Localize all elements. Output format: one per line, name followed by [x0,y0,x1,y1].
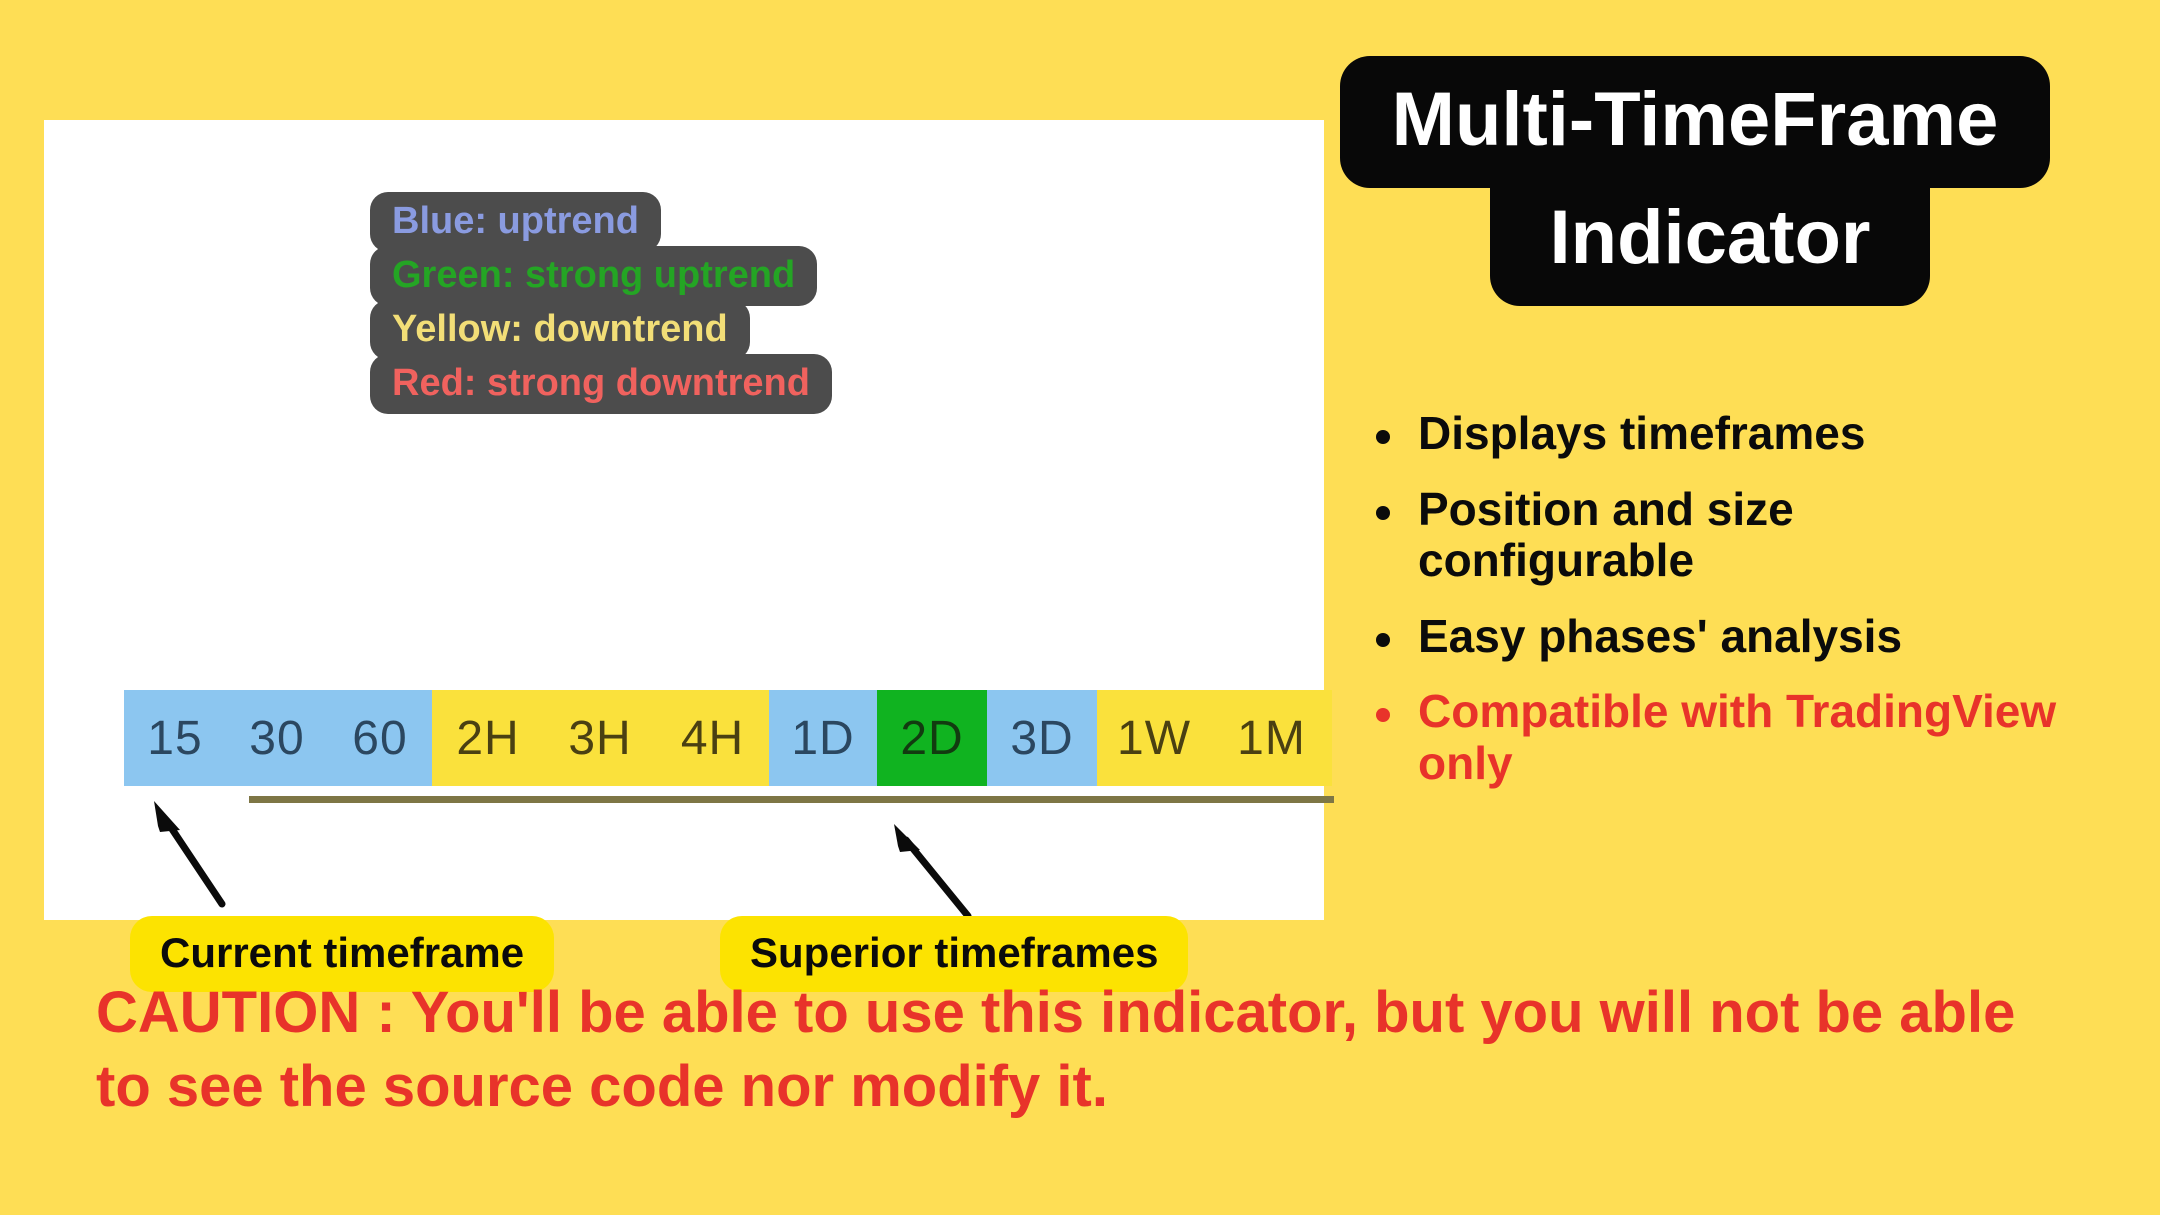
feature-list-item: Compatible with TradingView only [1360,686,2060,789]
timeframe-cell-1d[interactable]: 1D [769,690,877,786]
feature-list-item: Displays timeframes [1360,408,2060,460]
caution-text: CAUTION : You'll be able to use this ind… [96,976,2026,1124]
legend-row: Red: strong downtrend [370,354,832,414]
current-timeframe-arrow-icon [144,796,264,916]
preview-card: Blue: uptrendGreen: strong uptrendYellow… [44,120,1324,920]
timeframe-cell-15[interactable]: 15 [124,690,226,786]
trend-color-legend: Blue: uptrendGreen: strong uptrendYellow… [370,192,832,408]
timeframe-cell-2d[interactable]: 2D [877,690,987,786]
timeframe-cell-30[interactable]: 30 [226,690,328,786]
feature-list-item: Easy phases' analysis [1360,611,2060,663]
legend-row: Yellow: downtrend [370,300,750,360]
timeframe-bar[interactable]: 1530602H3H4H1D2D3D1W1M [124,690,1332,786]
timeframe-cell-1w[interactable]: 1W [1097,690,1211,786]
timeframe-cell-3d[interactable]: 3D [987,690,1097,786]
page-title-line-2: Indicator [1490,174,1930,306]
legend-row: Blue: uptrend [370,192,661,252]
timeframe-cell-4h[interactable]: 4H [656,690,769,786]
feature-list-item: Position and size configurable [1360,484,2060,587]
timeframe-cell-2h[interactable]: 2H [432,690,544,786]
legend-row: Green: strong uptrend [370,246,817,306]
feature-list: Displays timeframesPosition and size con… [1360,408,2060,813]
timeframe-cell-3h[interactable]: 3H [544,690,656,786]
superior-timeframes-arrow-icon [884,820,1004,930]
timeframe-cell-1m[interactable]: 1M [1211,690,1332,786]
page-title: Multi-TimeFrame Indicator [1340,56,2080,306]
page-title-line-1: Multi-TimeFrame [1340,56,2050,188]
bar-separator [249,796,1334,803]
timeframe-cell-60[interactable]: 60 [328,690,432,786]
